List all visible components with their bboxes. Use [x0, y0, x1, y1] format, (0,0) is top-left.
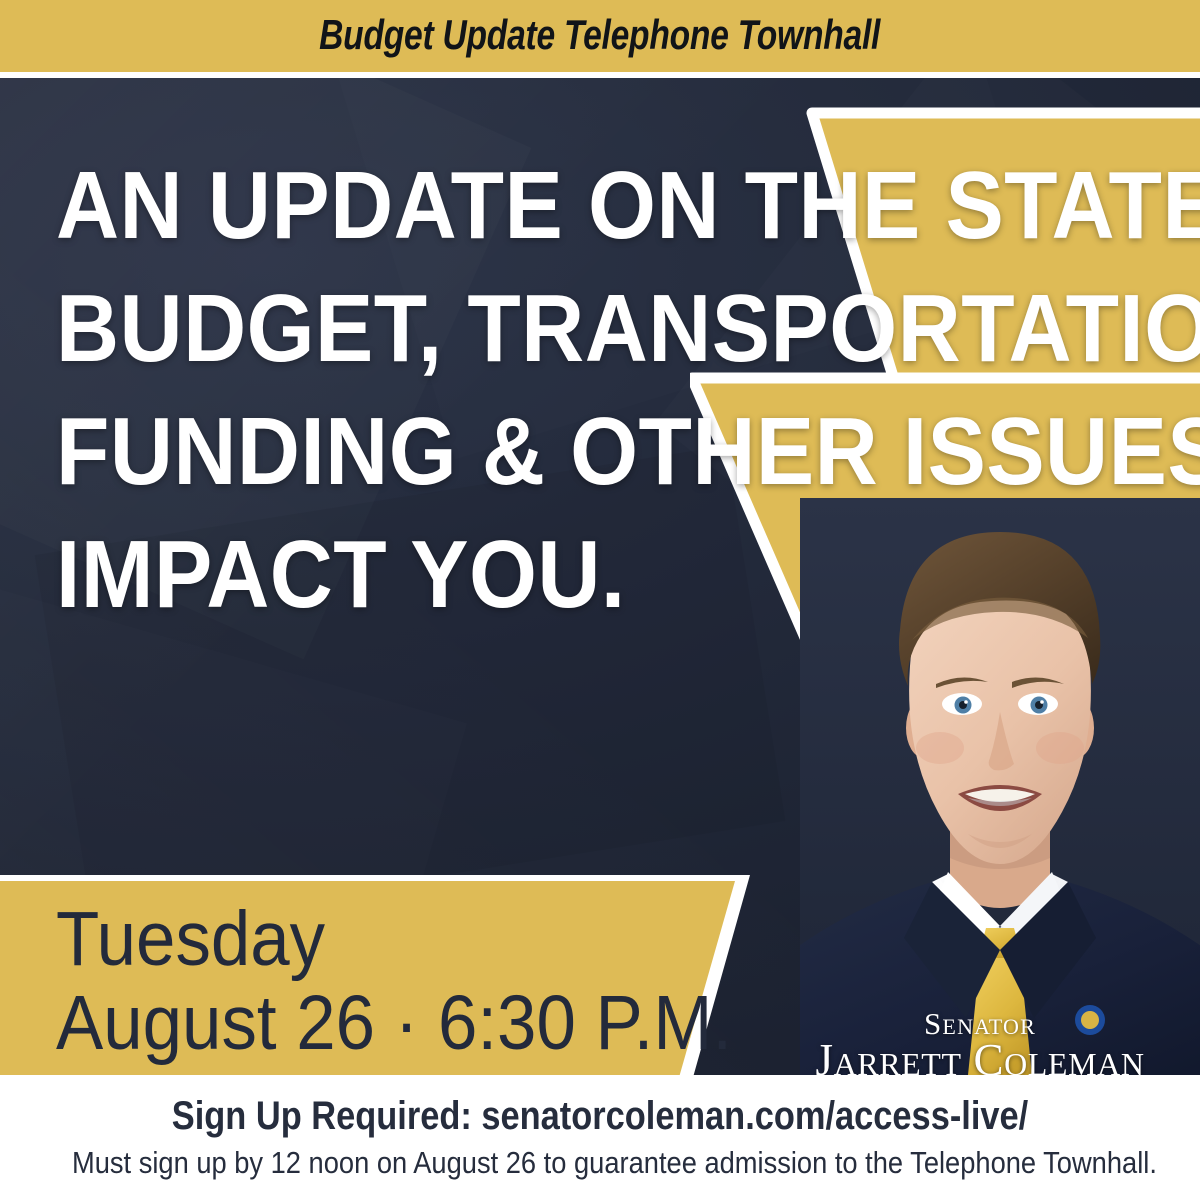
signup-line[interactable]: Sign Up Required: senatorcoleman.com/acc…	[84, 1093, 1116, 1139]
headline-line-4: IMPACT YOU.	[56, 513, 1048, 636]
headline-line-1: AN UPDATE ON THE STATE	[56, 144, 1048, 267]
event-day: Tuesday	[56, 897, 732, 981]
signup-deadline-note: Must sign up by 12 noon on August 26 to …	[72, 1145, 1128, 1181]
main-panel: AN UPDATE ON THE STATE BUDGET, TRANSPORT…	[0, 78, 1200, 1075]
nameplate-name: Jarrett Coleman	[770, 1037, 1190, 1075]
footer: Sign Up Required: senatorcoleman.com/acc…	[0, 1075, 1200, 1200]
date-text-group: Tuesday August 26 · 6:30 P.M.	[56, 897, 791, 1065]
event-date-banner: Tuesday August 26 · 6:30 P.M.	[0, 875, 750, 1075]
nameplate: Senator Jarrett Coleman Serving Lehigh a…	[770, 1008, 1190, 1075]
event-date-time: August 26 · 6:30 P.M.	[56, 981, 732, 1065]
headline-line-2: BUDGET, TRANSPORTATION	[56, 267, 1048, 390]
top-banner: Budget Update Telephone Townhall	[0, 0, 1200, 72]
event-flyer: Budget Update Telephone Townhall AN UPDA…	[0, 0, 1200, 1200]
headline-line-3: FUNDING & OTHER ISSUES THAT	[56, 390, 1048, 513]
headline: AN UPDATE ON THE STATE BUDGET, TRANSPORT…	[56, 144, 1146, 636]
banner-title: Budget Update Telephone Townhall	[319, 14, 880, 59]
